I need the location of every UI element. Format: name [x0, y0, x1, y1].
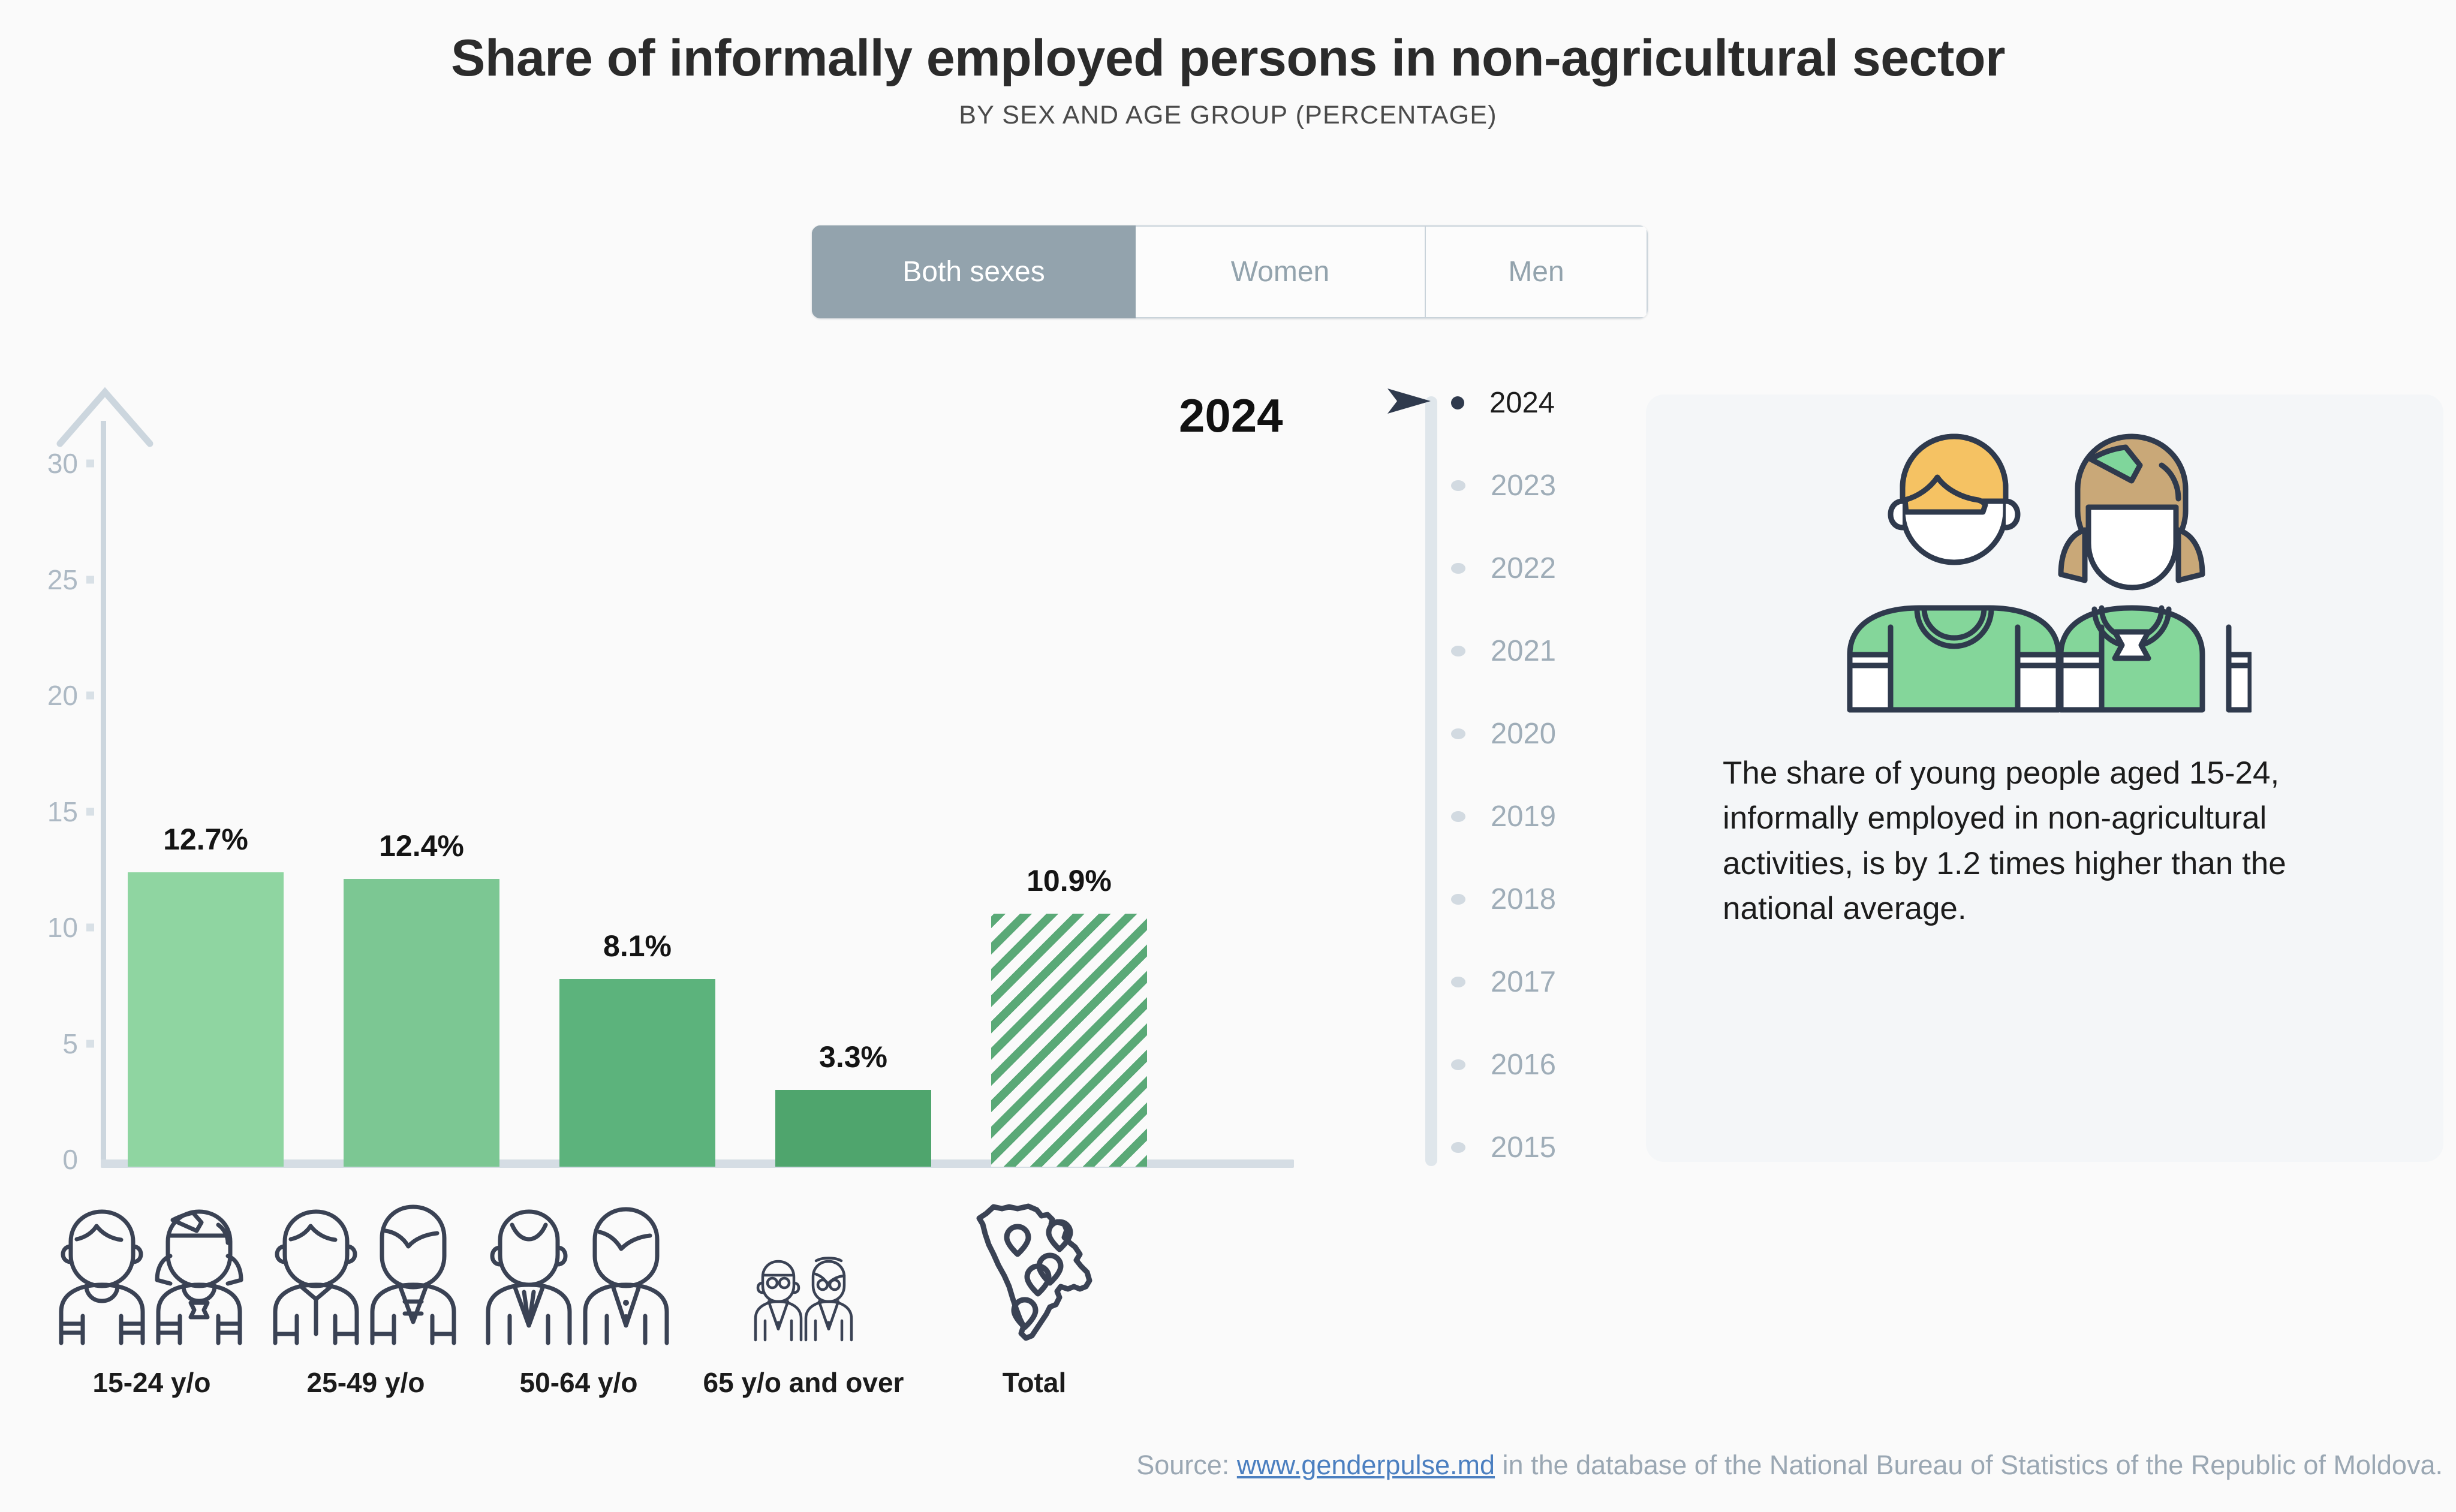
year-option-2018[interactable]: 2018: [1397, 881, 1556, 917]
source-prefix: Source:: [1136, 1450, 1237, 1480]
year-dot-icon: [1451, 480, 1465, 491]
page-title: Share of informally employed persons in …: [0, 31, 2456, 85]
year-label: 2017: [1491, 965, 1556, 999]
year-option-2020[interactable]: 2020: [1397, 716, 1556, 752]
source-link[interactable]: www.genderpulse.md: [1237, 1450, 1495, 1480]
bar-value-label: 12.4%: [379, 829, 464, 863]
category-label: Total: [932, 1366, 1136, 1399]
bar-15-24-y-o[interactable]: 12.7%: [128, 872, 284, 1167]
y-tick-label: 15: [12, 796, 78, 828]
y-tick-label: 30: [12, 447, 78, 480]
year-option-2022[interactable]: 2022: [1397, 550, 1556, 586]
year-option-2015[interactable]: 2015: [1397, 1130, 1556, 1165]
category-15-24: 15-24 y/o: [50, 1184, 254, 1399]
year-dot-icon: [1451, 728, 1465, 739]
bar-value-label: 10.9%: [1027, 863, 1112, 898]
chart-header: Share of informally employed persons in …: [0, 0, 2456, 130]
year-dot-icon: [1451, 1142, 1465, 1153]
youth-illustration: [1646, 394, 2443, 730]
y-tick-mark: [86, 460, 94, 468]
source-suffix: in the database of the National Bureau o…: [1495, 1450, 2443, 1480]
year-label: 2019: [1491, 800, 1556, 833]
year-dot-icon: [1451, 977, 1465, 987]
moldova-map-icon: [932, 1184, 1136, 1346]
y-tick-mark: [86, 808, 94, 815]
y-tick-mark: [86, 576, 94, 583]
y-tick-mark: [86, 924, 94, 932]
year-label: 2023: [1491, 469, 1556, 502]
category-50-64: 50-64 y/o: [477, 1184, 681, 1399]
sex-filter-tabs: Both sexes Women Men: [812, 225, 1648, 318]
year-dot-icon: [1451, 646, 1465, 656]
y-tick-label: 20: [12, 679, 78, 712]
bar-25-49-y-o[interactable]: 12.4%: [344, 879, 499, 1167]
bar-value-label: 8.1%: [603, 929, 672, 963]
y-axis-line: [101, 421, 106, 1163]
year-option-2024[interactable]: 2024: [1397, 385, 1555, 421]
bar-65-y-o-and-over[interactable]: 3.3%: [775, 1090, 931, 1167]
year-option-2016[interactable]: 2016: [1397, 1047, 1556, 1083]
bar-50-64-y-o[interactable]: 8.1%: [559, 979, 715, 1167]
y-tick-label: 10: [12, 911, 78, 944]
year-option-2023[interactable]: 2023: [1397, 468, 1556, 504]
category-label: 25-49 y/o: [264, 1366, 468, 1399]
y-tick-label: 0: [12, 1143, 78, 1176]
bar-total[interactable]: 10.9%: [991, 914, 1147, 1167]
y-tick-mark: [86, 1040, 94, 1047]
year-option-2021[interactable]: 2021: [1397, 633, 1556, 669]
tab-men[interactable]: Men: [1426, 225, 1648, 318]
category-label: 65 y/o and over: [684, 1366, 923, 1399]
bar-chart-plot: 051015202530 12.7%12.4%8.1%3.3%10.9%: [0, 378, 1319, 1175]
y-tick-mark: [86, 692, 94, 700]
page-subtitle: BY SEX AND AGE GROUP (PERCENTAGE): [0, 101, 2456, 130]
adult-couple-icon: [264, 1184, 468, 1346]
year-dot-icon: [1451, 811, 1465, 822]
bar-value-label: 3.3%: [819, 1040, 887, 1074]
category-axis: 15-24 y/o 25-49 y/o: [0, 1184, 1319, 1436]
category-label: 50-64 y/o: [477, 1366, 681, 1399]
year-label: 2015: [1491, 1131, 1556, 1164]
bar-value-label: 12.7%: [163, 822, 248, 857]
year-label: 2016: [1491, 1048, 1556, 1082]
y-tick-label: 5: [12, 1028, 78, 1060]
year-label: 2020: [1491, 717, 1556, 751]
year-label: 2022: [1491, 552, 1556, 585]
tab-women[interactable]: Women: [1136, 225, 1426, 318]
insight-card: The share of young people aged 15-24, in…: [1646, 394, 2443, 1162]
category-25-49: 25-49 y/o: [264, 1184, 468, 1399]
year-label: 2018: [1491, 882, 1556, 916]
young-couple-icon: [50, 1184, 254, 1346]
y-axis-arrow-icon: [54, 384, 156, 450]
category-total: Total: [932, 1184, 1136, 1399]
year-option-2019[interactable]: 2019: [1397, 799, 1556, 835]
category-65-over: 65 y/o and over: [684, 1184, 923, 1399]
senior-couple-icon: [477, 1184, 681, 1346]
source-footer: Source: www.genderpulse.md in the databa…: [1136, 1450, 2443, 1481]
elderly-couple-icon: [684, 1184, 923, 1346]
y-tick-label: 25: [12, 564, 78, 596]
insight-text: The share of young people aged 15-24, in…: [1646, 730, 2443, 931]
tab-both-sexes[interactable]: Both sexes: [812, 225, 1136, 318]
year-dot-icon: [1451, 894, 1465, 905]
category-label: 15-24 y/o: [50, 1366, 254, 1399]
year-label: 2024: [1489, 386, 1555, 420]
year-dot-icon: [1451, 396, 1464, 409]
year-dot-icon: [1451, 563, 1465, 574]
year-timeline[interactable]: 2024202320222021202020192018201720162015: [1397, 378, 1637, 1175]
year-option-2017[interactable]: 2017: [1397, 964, 1556, 1000]
year-dot-icon: [1451, 1059, 1465, 1070]
year-label: 2021: [1491, 634, 1556, 668]
